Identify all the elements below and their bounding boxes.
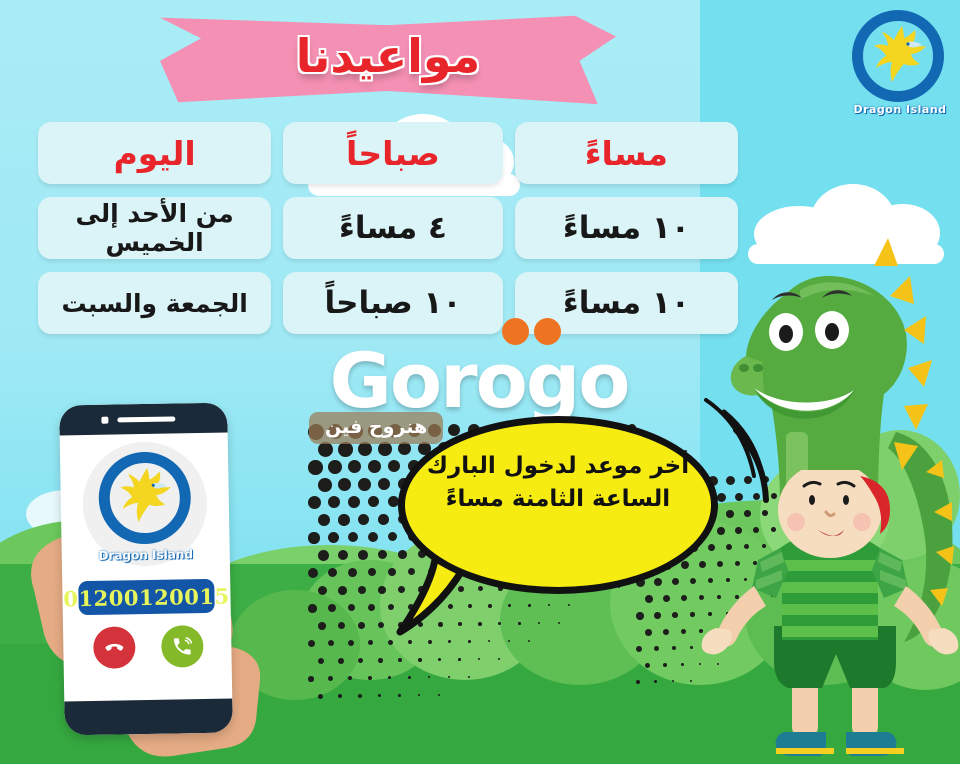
phone-call-glyph <box>171 635 193 657</box>
dragon-head-icon <box>114 465 175 528</box>
phone-earpiece-bar <box>59 403 227 436</box>
header-evening: مساءً <box>515 122 738 184</box>
phone-mockup: Dragon Island 01200120015 <box>59 403 233 736</box>
row-1-morning: ١٠ صباحاً <box>283 272 502 334</box>
speech-bubble-line-2: الساعة الثامنة مساءً <box>412 483 704 516</box>
phone-camera-icon <box>101 417 108 424</box>
page-title: مواعيدنا <box>160 12 616 106</box>
call-buttons <box>93 625 204 669</box>
header-day: اليوم <box>38 122 271 184</box>
brand-name-label: Dragon Island <box>846 103 954 116</box>
schedule-header-row: مساءً صباحاً اليوم <box>38 122 738 184</box>
phone-speaker-icon <box>117 416 175 422</box>
boy-character <box>700 470 960 764</box>
header-morning: صباحاً <box>283 122 502 184</box>
phone-number: 01200120015 <box>78 579 215 615</box>
row-1-evening: ١٠ مساءً <box>515 272 738 334</box>
speech-bubble-text: أخر موعد لدخول البارك الساعة الثامنة مسا… <box>412 450 704 515</box>
row-1-day: الجمعة والسبت <box>38 272 271 334</box>
row-0-morning: ٤ مساءً <box>283 197 502 259</box>
page-title-ribbon: مواعيدنا <box>160 12 616 106</box>
table-row: ١٠ مساءً ٤ مساءً من الأحد إلى الخميس <box>38 197 738 259</box>
phone-brand-logo: Dragon Island <box>82 441 208 567</box>
phone-home-bar <box>64 699 233 736</box>
phone-logo-caption: Dragon Island <box>84 547 208 563</box>
poster-canvas: مواعيدنا Dragon Island مساءً صباحاً اليو… <box>0 0 960 764</box>
brand-logo-top-right: Dragon Island <box>846 6 954 114</box>
schedule-table: مساءً صباحاً اليوم ١٠ مساءً ٤ مساءً من ا… <box>38 122 738 334</box>
speech-bubble: أخر موعد لدخول البارك الساعة الثامنة مسا… <box>398 416 718 594</box>
phone-call-icon[interactable] <box>161 625 204 668</box>
dragon-head-icon <box>868 24 930 88</box>
phone-hangup-glyph <box>103 636 125 658</box>
row-0-evening: ١٠ مساءً <box>515 197 738 259</box>
speech-bubble-line-1: أخر موعد لدخول البارك <box>412 450 704 483</box>
table-row: ١٠ مساءً ١٠ صباحاً الجمعة والسبت <box>38 272 738 334</box>
phone-hangup-icon[interactable] <box>93 626 136 669</box>
row-0-day: من الأحد إلى الخميس <box>38 197 271 259</box>
